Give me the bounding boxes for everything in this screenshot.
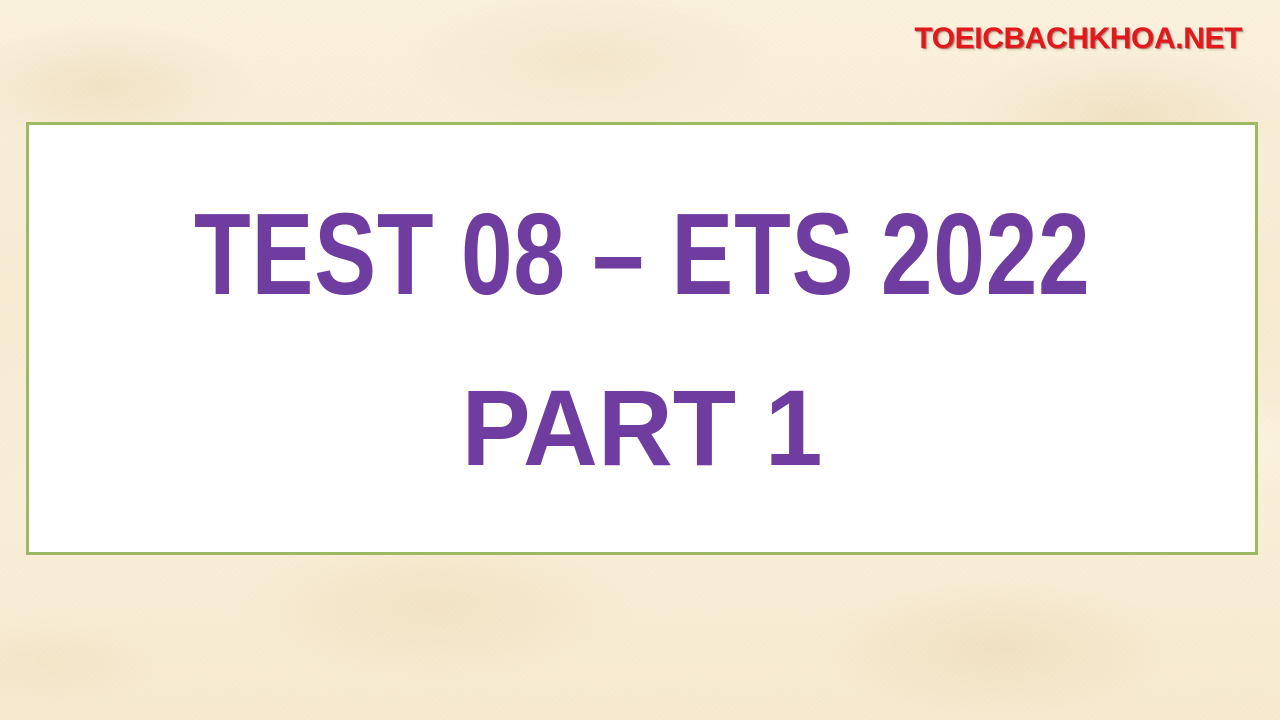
test-title-line: TEST 08 – ETS 2022: [194, 196, 1090, 312]
title-card: TEST 08 – ETS 2022 PART 1: [26, 122, 1258, 555]
slide-canvas: TOEICBACHKHOA.NET TEST 08 – ETS 2022 PAR…: [0, 0, 1280, 720]
site-watermark: TOEICBACHKHOA.NET: [914, 24, 1242, 54]
part-title-line: PART 1: [461, 374, 822, 482]
